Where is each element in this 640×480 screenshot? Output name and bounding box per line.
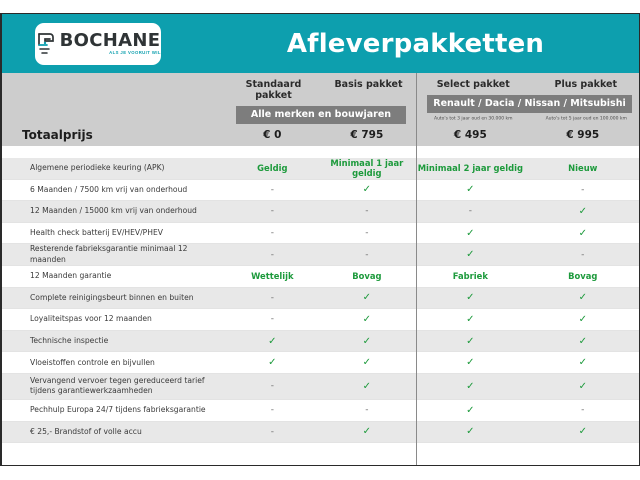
- table-row: Pechhulp Europa 24/7 tijdens fabrieksgar…: [2, 400, 639, 422]
- feature-value: Wettelijk: [225, 271, 320, 281]
- dash-icon: -: [225, 427, 320, 437]
- table-row: 6 Maanden / 7500 km vrij van onderhoud-✓…: [2, 180, 639, 202]
- feature-label: € 25,- Brandstof of volle accu: [2, 427, 225, 437]
- check-icon: ✓: [527, 426, 639, 437]
- table-row: Loyaliteitspas voor 12 maanden-✓✓✓: [2, 309, 639, 331]
- check-icon: ✓: [527, 228, 639, 239]
- feature-value: Geldig: [225, 163, 320, 173]
- check-icon: ✓: [414, 184, 526, 195]
- logo-wordmark: BOCHANE: [60, 32, 161, 50]
- feature-value: Fabriek: [414, 271, 526, 281]
- feature-label: Resterende fabrieksgarantie minimaal 12 …: [2, 244, 225, 265]
- check-icon: ✓: [320, 426, 415, 437]
- total-price-plus: € 995: [527, 129, 639, 141]
- page-header: BOCHANE ALS JE VOORUIT WIL Afleverpakket…: [2, 14, 639, 73]
- table-row: Vervangend vervoer tegen gereduceerd tar…: [2, 374, 639, 400]
- check-icon: ✓: [414, 292, 526, 303]
- feature-label: Technische inspectie: [2, 336, 225, 346]
- feature-label: Pechhulp Europa 24/7 tijdens fabrieksgar…: [2, 405, 225, 415]
- dash-icon: -: [320, 250, 415, 260]
- table-top-spacer: [2, 146, 639, 158]
- check-icon: ✓: [527, 357, 639, 368]
- logo-text: BOCHANE ALS JE VOORUIT WIL: [60, 32, 161, 56]
- check-icon: ✓: [414, 314, 526, 325]
- package-names-right: Select pakket Plus pakket: [417, 73, 640, 90]
- feature-label: 6 Maanden / 7500 km vrij van onderhoud: [2, 185, 225, 195]
- feature-label: 12 Maanden / 15000 km vrij van onderhoud: [2, 206, 225, 216]
- feature-label: Loyaliteitspas voor 12 maanden: [2, 314, 225, 324]
- dash-icon: -: [225, 228, 320, 238]
- table-row: Health check batterij EV/HEV/PHEV--✓✓: [2, 223, 639, 245]
- check-icon: ✓: [527, 314, 639, 325]
- package-subs-right: Auto's tot 3 jaar oud en 30.000 km Auto'…: [417, 116, 640, 120]
- table-row: € 25,- Brandstof of volle accu-✓✓✓: [2, 422, 639, 444]
- check-icon: ✓: [527, 292, 639, 303]
- column-sub-plus: Auto's tot 5 jaar oud en 100.000 km: [515, 116, 640, 121]
- feature-label: Vloeistoffen controle en bijvullen: [2, 358, 225, 368]
- column-header-plus: Plus pakket: [530, 79, 640, 90]
- column-header-select: Select pakket: [417, 79, 530, 90]
- check-icon: ✓: [320, 292, 415, 303]
- package-names-left: Standaard pakket Basis pakket: [226, 73, 416, 101]
- check-icon: ✓: [527, 206, 639, 217]
- dash-icon: -: [225, 206, 320, 216]
- dash-icon: -: [320, 405, 415, 415]
- check-icon: ✓: [320, 381, 415, 392]
- table-row: Algemene periodieke keuring (APK)GeldigM…: [2, 158, 639, 180]
- check-icon: ✓: [414, 426, 526, 437]
- check-icon: ✓: [225, 357, 320, 368]
- check-icon: ✓: [320, 357, 415, 368]
- bochane-logo[interactable]: BOCHANE ALS JE VOORUIT WIL: [35, 23, 161, 65]
- feature-value: Minimaal 1 jaar geldig: [320, 158, 415, 178]
- check-icon: ✓: [414, 336, 526, 347]
- total-price-row: Totaalprijs € 0 € 795 € 495 € 995: [2, 123, 639, 146]
- column-header-standaard: Standaard pakket: [226, 79, 321, 101]
- dash-icon: -: [225, 314, 320, 324]
- table-row: Technische inspectie✓✓✓✓: [2, 331, 639, 353]
- total-price-basis: € 795: [320, 129, 415, 141]
- dash-icon: -: [225, 250, 320, 260]
- comparison-sheet: BOCHANE ALS JE VOORUIT WIL Afleverpakket…: [0, 13, 640, 466]
- feature-value: Minimaal 2 jaar geldig: [414, 163, 526, 173]
- check-icon: ✓: [527, 381, 639, 392]
- feature-label: Vervangend vervoer tegen gereduceerd tar…: [2, 376, 225, 397]
- table-row: Vloeistoffen controle en bijvullen✓✓✓✓: [2, 352, 639, 374]
- check-icon: ✓: [320, 184, 415, 195]
- dash-icon: -: [414, 206, 526, 216]
- afleverpakketten-page: BOCHANE ALS JE VOORUIT WIL Afleverpakket…: [0, 0, 640, 480]
- page-title: Afleverpakketten: [192, 29, 639, 59]
- dash-icon: -: [527, 250, 639, 260]
- feature-value: Nieuw: [527, 163, 639, 173]
- table-bottom-pad: [2, 443, 639, 466]
- feature-label: 12 Maanden garantie: [2, 271, 225, 281]
- table-row: Resterende fabrieksgarantie minimaal 12 …: [2, 244, 639, 266]
- feature-label: Complete reinigingsbeurt binnen en buite…: [2, 293, 225, 303]
- check-icon: ✓: [414, 405, 526, 416]
- check-icon: ✓: [414, 381, 526, 392]
- dash-icon: -: [527, 405, 639, 415]
- dash-icon: -: [320, 228, 415, 238]
- dash-icon: -: [225, 293, 320, 303]
- check-icon: ✓: [527, 336, 639, 347]
- table-row: Complete reinigingsbeurt binnen en buite…: [2, 288, 639, 310]
- dash-icon: -: [225, 381, 320, 391]
- total-price-label: Totaalprijs: [2, 128, 225, 142]
- check-icon: ✓: [225, 336, 320, 347]
- check-icon: ✓: [414, 249, 526, 260]
- check-icon: ✓: [320, 314, 415, 325]
- group-band-left: Alle merken en bouwjaren: [236, 106, 406, 124]
- feature-value: Bovag: [527, 271, 639, 281]
- table-row: 12 Maanden / 15000 km vrij van onderhoud…: [2, 201, 639, 223]
- dash-icon: -: [527, 185, 639, 195]
- feature-table: Algemene periodieke keuring (APK)GeldigM…: [2, 146, 639, 443]
- table-row: 12 Maanden garantieWettelijkBovagFabriek…: [2, 266, 639, 288]
- logo-tagline: ALS JE VOORUIT WIL: [109, 52, 161, 56]
- dash-icon: -: [225, 185, 320, 195]
- total-price-standaard: € 0: [225, 129, 320, 141]
- feature-label: Algemene periodieke keuring (APK): [2, 163, 225, 173]
- dash-icon: -: [320, 206, 415, 216]
- check-icon: ✓: [320, 336, 415, 347]
- total-price-select: € 495: [414, 129, 526, 141]
- check-icon: ✓: [414, 228, 526, 239]
- bochane-mark-icon: [36, 32, 55, 57]
- group-band-right: Renault / Dacia / Nissan / Mitsubishi: [427, 95, 632, 113]
- column-header-band: Standaard pakket Basis pakket Alle merke…: [2, 73, 639, 146]
- check-icon: ✓: [414, 357, 526, 368]
- dash-icon: -: [225, 405, 320, 415]
- column-header-basis: Basis pakket: [321, 79, 416, 101]
- feature-value: Bovag: [320, 271, 415, 281]
- feature-label: Health check batterij EV/HEV/PHEV: [2, 228, 225, 238]
